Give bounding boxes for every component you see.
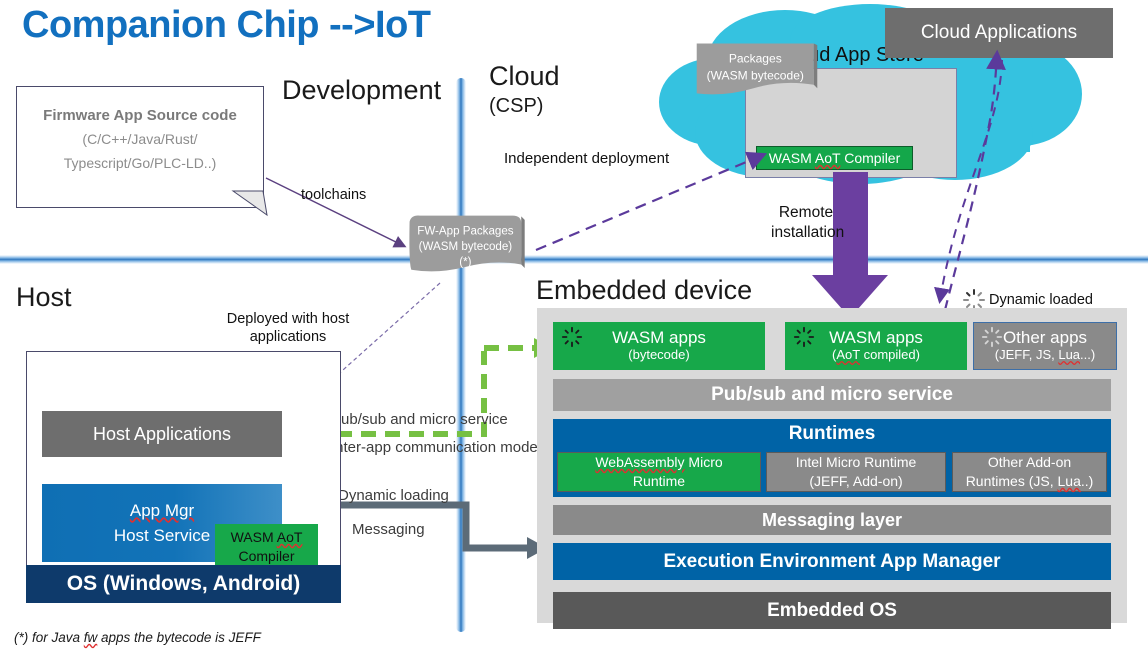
- label-dynamic-loaded: Dynamic loaded: [989, 292, 1093, 308]
- runtime-1-line1: Intel Micro Runtime: [796, 454, 917, 470]
- spinner-icon-app-1: [793, 326, 815, 348]
- spinner-icon-app-0: [561, 326, 583, 348]
- label-remote-line2: installation: [771, 223, 841, 243]
- label-dynamic-loading: Dynamic loading: [338, 487, 449, 504]
- runtime-cell-other: Other Add-onRuntimes (JS, Lua..): [952, 452, 1107, 492]
- runtimes-title: Runtimes: [553, 423, 1111, 445]
- runtime-1-line2: (JEFF, Add-on): [809, 473, 902, 489]
- label-remote-line1: Remote: [771, 203, 841, 223]
- embedded-os-bar: Embedded OS: [553, 592, 1111, 629]
- host-wasm-aot-compiler-box: WASM AoTCompiler: [215, 524, 318, 570]
- host-applications-box: Host Applications: [42, 411, 282, 457]
- label-messaging: Messaging: [352, 521, 425, 538]
- host-os-bar: OS (Windows, Android): [26, 565, 341, 603]
- embedded-pubsub-bar: Pub/sub and micro service: [553, 379, 1111, 411]
- embedded-app-wasm-bytecode: WASM apps (bytecode): [553, 322, 765, 370]
- runtime-cell-intel: Intel Micro Runtime (JEFF, Add-on): [766, 452, 946, 492]
- label-inter-app-communication: Inter-app communication models: [331, 439, 549, 456]
- embedded-app-manager-bar: Execution Environment App Manager: [553, 543, 1111, 580]
- embedded-app-1-name: WASM apps: [829, 329, 923, 346]
- embedded-app-2-detail: (JEFF, JS, Lua...): [995, 346, 1095, 363]
- embedded-app-0-name: WASM apps: [612, 329, 706, 346]
- label-deployed-with-host-applications: Deployed with host applications: [218, 310, 358, 346]
- runtime-cell-webassembly: WebAssembly MicroRuntime: [557, 452, 761, 492]
- spinner-icon-app-2: [981, 326, 1003, 348]
- label-remote-installation: Remote installation: [771, 203, 841, 243]
- app-mgr-line1: App Mgr: [42, 498, 282, 523]
- label-deployed-line1: Deployed with host: [218, 310, 358, 328]
- host-aot-label: WASM AoTCompiler: [231, 528, 303, 566]
- embedded-app-1-detail: (AoT compiled): [829, 346, 923, 363]
- embedded-runtimes-bar: Runtimes WebAssembly MicroRuntime Intel …: [553, 419, 1111, 497]
- label-deployed-line2: applications: [218, 328, 358, 346]
- embedded-messaging-layer-bar: Messaging layer: [553, 505, 1111, 535]
- embedded-app-0-detail: (bytecode): [612, 346, 706, 363]
- embedded-app-2-name: Other apps: [995, 329, 1095, 346]
- label-pubsub-micro-service: Pub/sub and micro service: [331, 411, 508, 428]
- label-toolchains: toolchains: [301, 186, 366, 204]
- label-independent-deployment: Independent deployment: [504, 150, 669, 168]
- footnote: (*) for Java fw apps the bytecode is JEF…: [14, 630, 261, 645]
- remote-installation-arrow: [812, 172, 888, 318]
